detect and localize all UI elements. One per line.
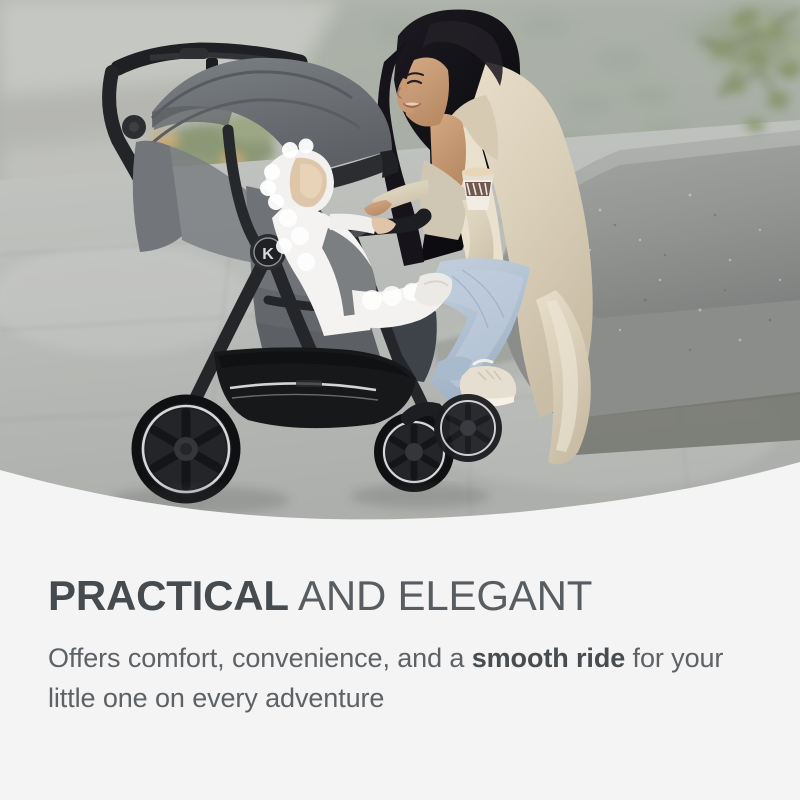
face (404, 58, 449, 127)
svg-text:K: K (262, 246, 274, 263)
hero-photo-illustration: K (0, 0, 800, 520)
headline-light: AND ELEGANT (289, 572, 592, 619)
page-subtitle: Offers comfort, convenience, and a smoot… (48, 638, 728, 718)
page-title: PRACTICAL AND ELEGANT (48, 572, 592, 620)
subtitle-bold: smooth ride (472, 643, 625, 673)
headline-strong: PRACTICAL (48, 572, 289, 619)
stroller-basket (214, 347, 416, 428)
hero-photo: K (0, 0, 800, 520)
far-wheel (434, 394, 502, 462)
subtitle-part-1: Offers comfort, convenience, and a (48, 643, 472, 673)
text-panel: PRACTICAL AND ELEGANT Offers comfort, co… (0, 520, 800, 800)
promo-banner: K (0, 0, 800, 800)
